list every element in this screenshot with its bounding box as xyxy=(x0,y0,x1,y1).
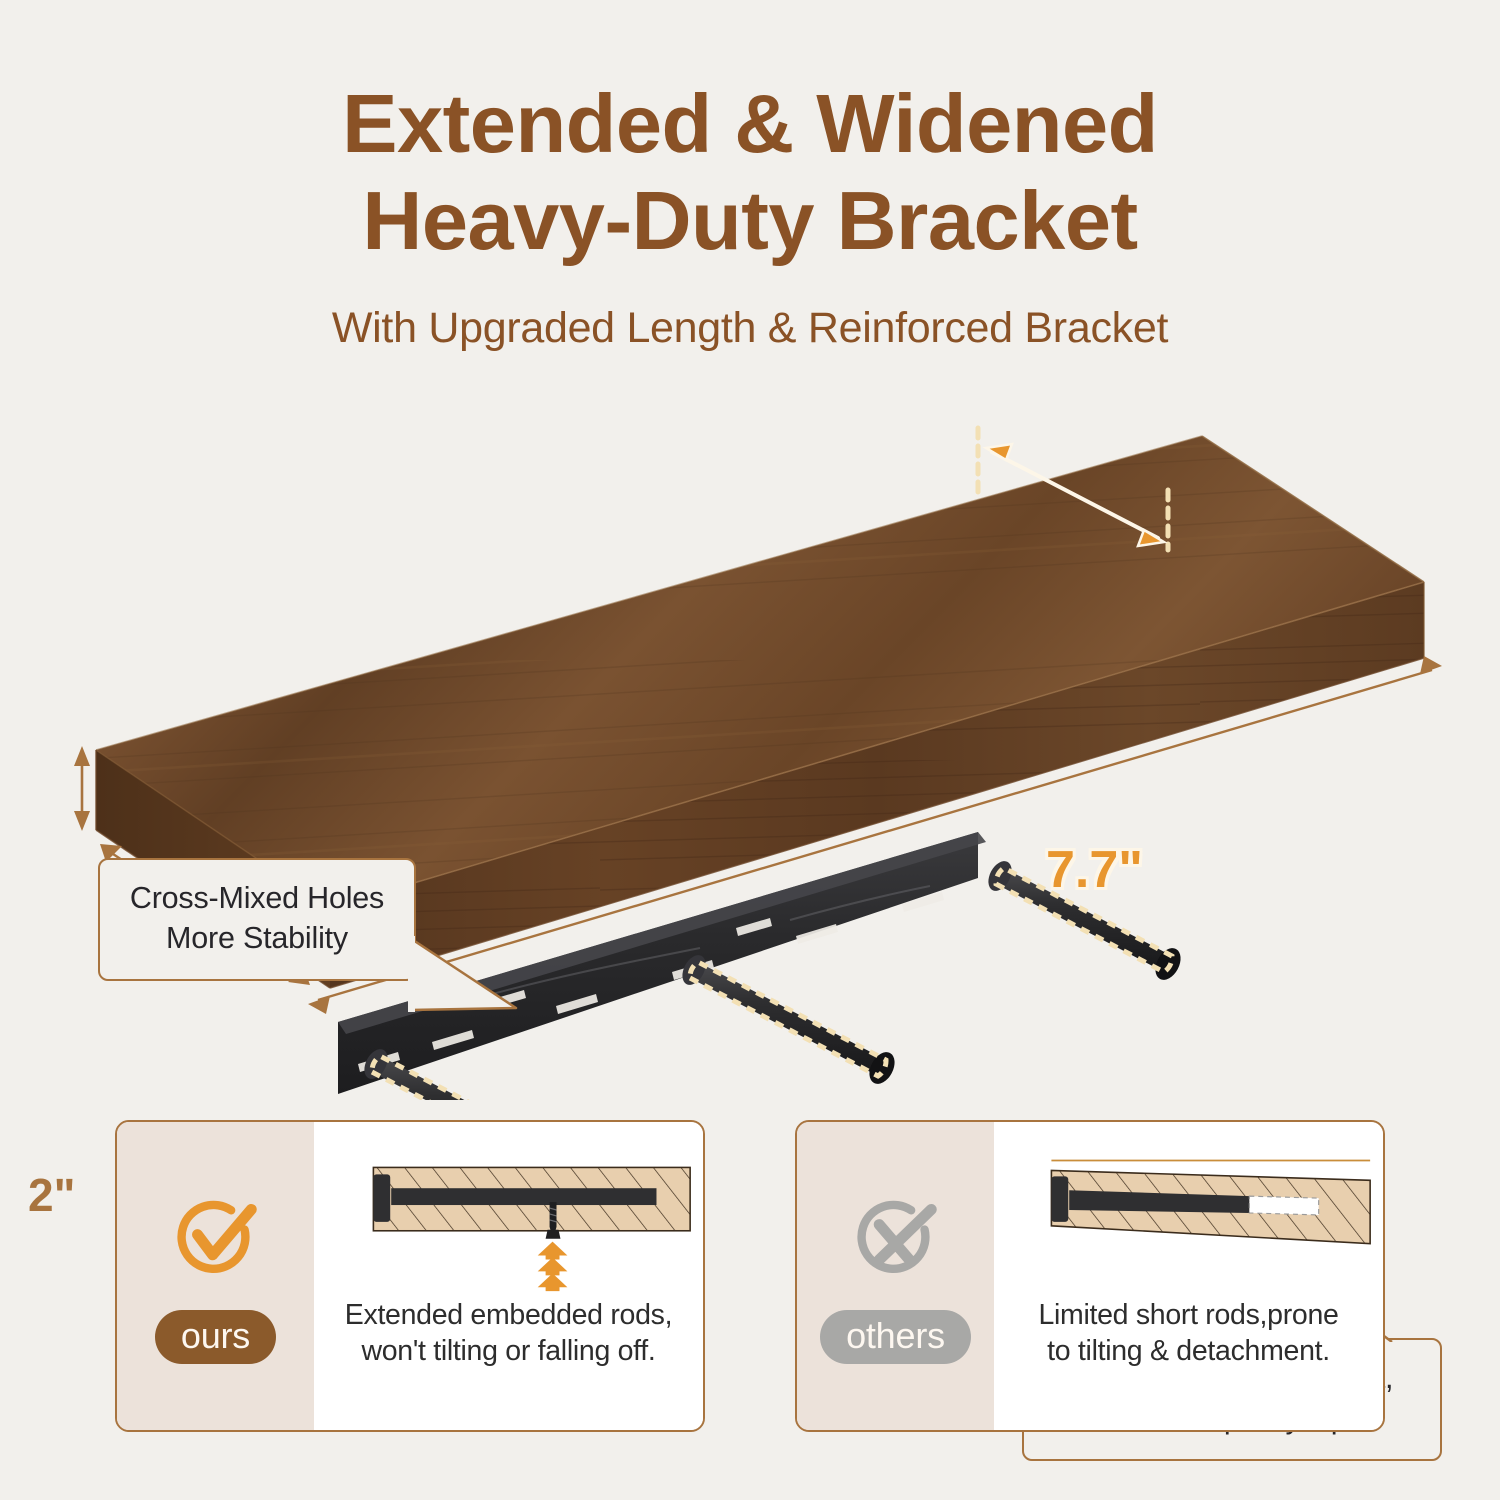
bracket-rod-middle xyxy=(678,951,900,1088)
check-circle-icon xyxy=(174,1196,258,1280)
ours-rod-diagram xyxy=(314,1122,703,1297)
page-title-line-2: Heavy-Duty Bracket xyxy=(0,179,1500,262)
empty-cavity xyxy=(1249,1196,1318,1215)
comparison-panel-ours: ours xyxy=(115,1120,705,1432)
ours-badge-column: ours xyxy=(117,1122,314,1430)
dimension-label-rod-length: 7.7" xyxy=(1046,840,1143,900)
force-arrows-icon xyxy=(538,1242,568,1291)
embedded-rod xyxy=(391,1188,656,1205)
ours-caption-line-1: Extended embedded rods, xyxy=(345,1297,672,1333)
others-badge-column: others xyxy=(797,1122,994,1430)
floating-shelf-illustration xyxy=(0,400,1500,1100)
ours-body: Extended embedded rods, won't tilting or… xyxy=(314,1122,703,1430)
callout-cross-mixed-holes: Cross-Mixed Holes More Stability xyxy=(98,858,416,981)
comparison-panel-others: others xyxy=(795,1120,1385,1432)
header: Extended & Widened Heavy-Duty Bracket Wi… xyxy=(0,82,1500,353)
ours-caption-line-2: won't tilting or falling off. xyxy=(345,1333,672,1369)
callout-holes-line-2: More Stability xyxy=(120,918,394,958)
wall-plate xyxy=(373,1174,390,1222)
callout-holes-line-1: Cross-Mixed Holes xyxy=(120,878,394,918)
others-body: Limited short rods,prone to tilting & de… xyxy=(994,1122,1383,1430)
x-circle-icon xyxy=(854,1196,938,1280)
thickness-dimension xyxy=(74,746,90,831)
others-rod-diagram xyxy=(994,1122,1383,1297)
page-subtitle: With Upgraded Length & Reinforced Bracke… xyxy=(0,304,1500,353)
others-caption-line-1: Limited short rods,prone xyxy=(1038,1297,1338,1333)
wall-plate xyxy=(1051,1176,1068,1222)
ours-caption: Extended embedded rods, won't tilting or… xyxy=(337,1297,680,1370)
hero-product-scene: Cross-Mixed Holes More Stability Increas… xyxy=(0,400,1500,1100)
others-caption-line-2: to tilting & detachment. xyxy=(1038,1333,1338,1369)
comparison-section: ours xyxy=(0,1120,1500,1450)
others-badge: others xyxy=(820,1310,971,1365)
product-infographic: Extended & Widened Heavy-Duty Bracket Wi… xyxy=(0,0,1500,1500)
ours-badge: ours xyxy=(155,1310,276,1365)
others-caption: Limited short rods,prone to tilting & de… xyxy=(1030,1297,1346,1370)
page-title-line-1: Extended & Widened xyxy=(0,82,1500,165)
